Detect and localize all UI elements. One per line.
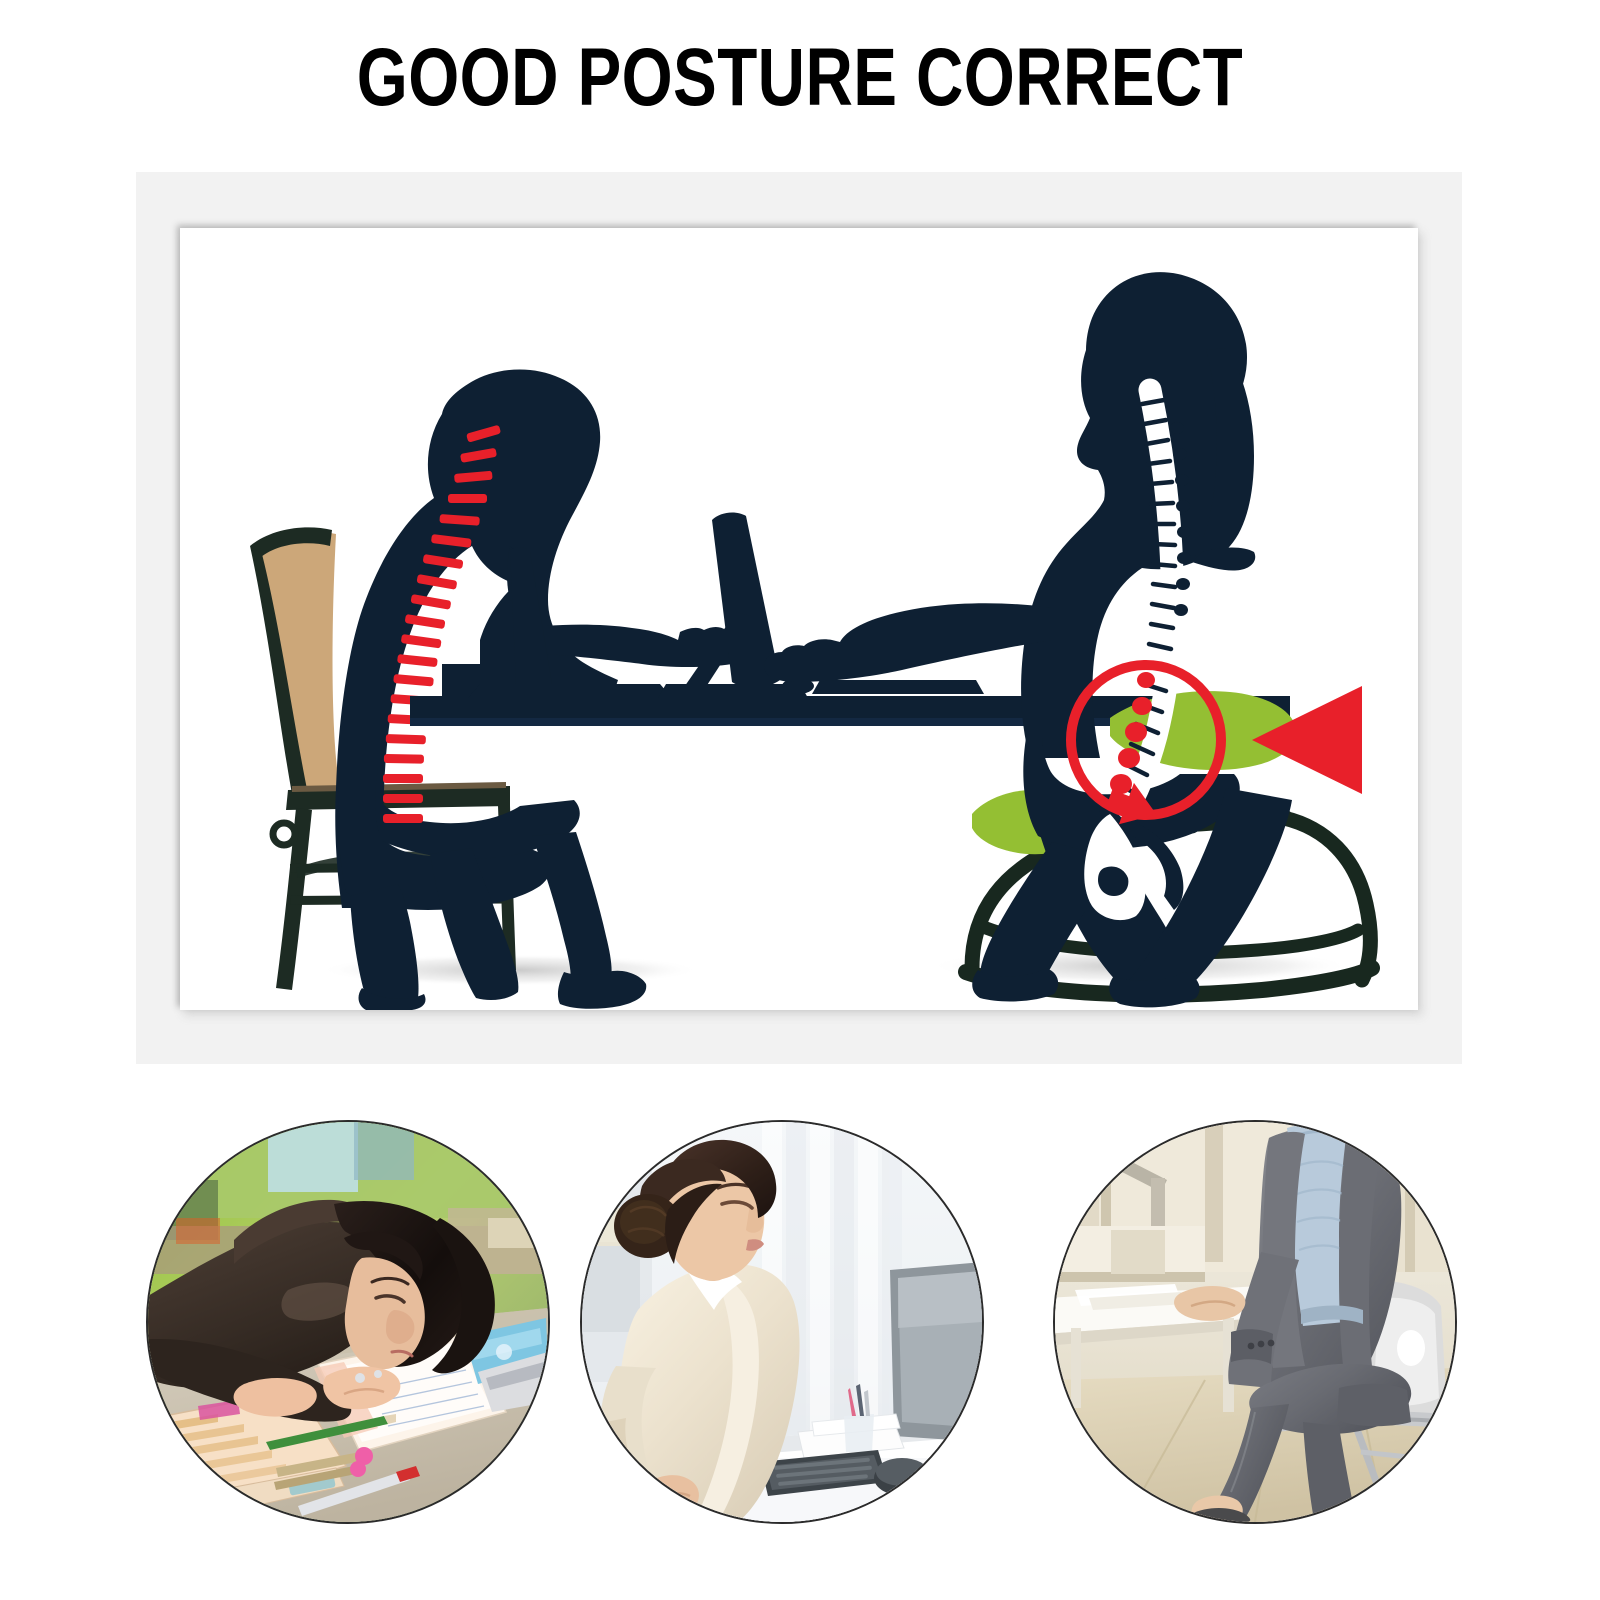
- page-title: GOOD POSTURE CORRECT: [357, 37, 1243, 119]
- photo-back-pain-office-image: [582, 1122, 982, 1522]
- photo-student-slouching-image: [148, 1122, 548, 1522]
- hero-photo-frame: [136, 172, 1462, 1064]
- photo-row: [0, 1120, 1600, 1600]
- keyboard: [812, 680, 984, 694]
- photo-seated-suit-crossed-legs[interactable]: [1053, 1120, 1457, 1524]
- posture-comparison-illustration: [180, 228, 1418, 1010]
- hero-frame-mat: [180, 228, 1418, 1010]
- photo-seated-suit-crossed-legs-image: [1055, 1122, 1455, 1522]
- photo-back-pain-office[interactable]: [580, 1120, 984, 1524]
- title-bar: GOOD POSTURE CORRECT: [0, 0, 1600, 150]
- laptop-base: [468, 684, 672, 698]
- photo-student-slouching[interactable]: [146, 1120, 550, 1524]
